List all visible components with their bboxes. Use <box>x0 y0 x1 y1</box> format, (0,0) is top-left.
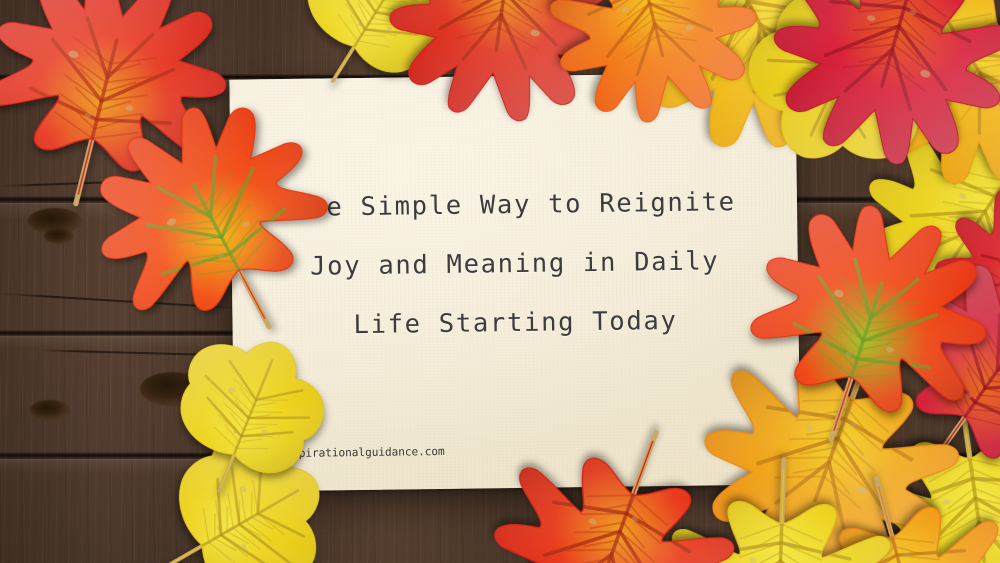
graphic-canvas: One Simple Way to Reignite Joy and Meani… <box>0 0 1000 563</box>
wood-knot <box>44 228 74 244</box>
wood-knot <box>30 400 70 420</box>
